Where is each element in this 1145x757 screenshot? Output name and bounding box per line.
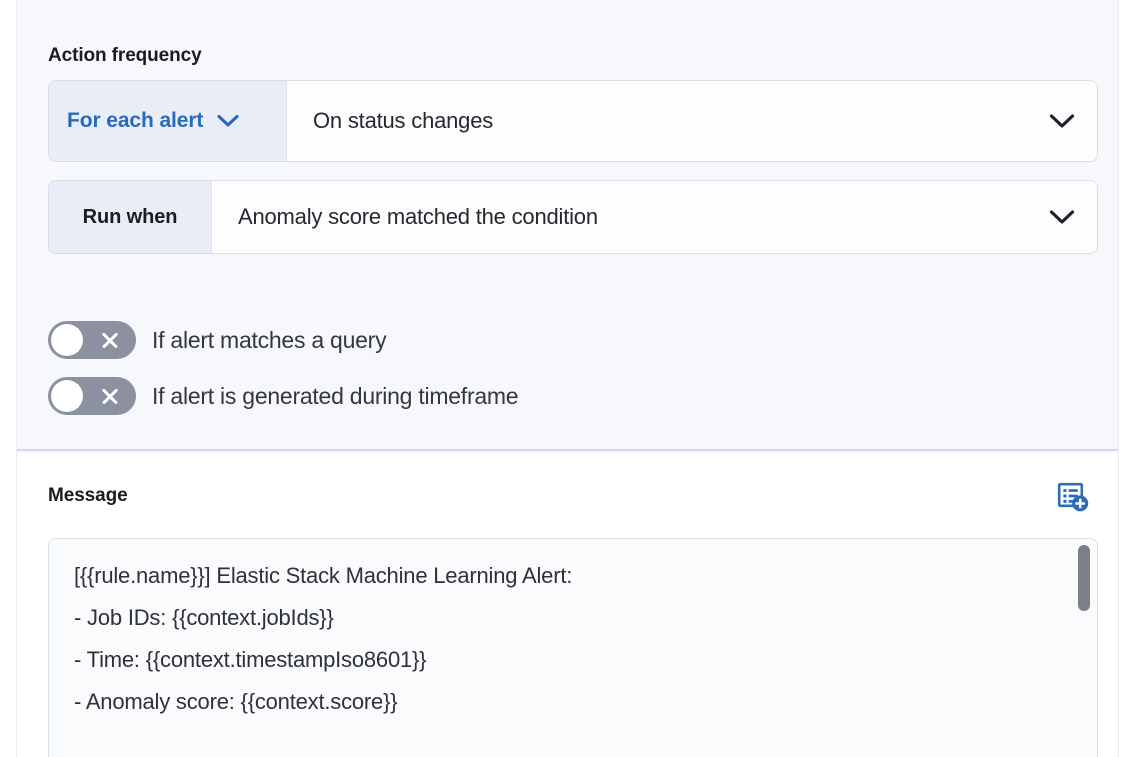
alert-query-filter-label: If alert matches a query: [152, 327, 386, 354]
screen: Action frequency For each alert On statu…: [0, 0, 1145, 757]
action-flyout-panel: Action frequency For each alert On statu…: [17, 0, 1118, 757]
right-gutter: [1118, 0, 1145, 757]
alert-timeframe-filter-toggle[interactable]: [48, 377, 136, 415]
run-when-prepend: Run when: [49, 181, 212, 253]
add-variable-icon: [1056, 480, 1090, 519]
message-scrollbar[interactable]: [1078, 545, 1090, 757]
action-frequency-section: Action frequency For each alert On statu…: [17, 0, 1118, 451]
chevron-down-icon: [1049, 209, 1075, 225]
cross-icon: [101, 331, 119, 349]
for-each-alert-prepend[interactable]: For each alert: [49, 81, 287, 161]
action-frequency-field: For each alert On status changes: [48, 80, 1098, 162]
run-when-select[interactable]: Anomaly score matched the condition: [212, 181, 1097, 253]
message-textarea[interactable]: [{{rule.name}}] Elastic Stack Machine Le…: [48, 538, 1098, 757]
alert-timeframe-filter-label: If alert is generated during timeframe: [152, 383, 518, 410]
alert-timeframe-filter-row: If alert is generated during timeframe: [48, 377, 518, 415]
message-section: Message: [17, 453, 1118, 757]
message-scrollbar-thumb[interactable]: [1078, 545, 1090, 611]
message-textarea-content: [{{rule.name}}] Elastic Stack Machine Le…: [49, 539, 1097, 739]
run-when-field: Run when Anomaly score matched the condi…: [48, 180, 1098, 254]
alert-query-filter-toggle[interactable]: [48, 321, 136, 359]
chevron-down-icon: [1049, 113, 1075, 129]
for-each-alert-dropdown[interactable]: For each alert: [67, 109, 239, 133]
toggle-knob: [51, 324, 83, 356]
alert-query-filter-row: If alert matches a query: [48, 321, 386, 359]
chevron-down-icon: [217, 114, 239, 128]
run-when-label: Run when: [83, 206, 178, 229]
notify-when-value: On status changes: [313, 108, 493, 134]
action-frequency-heading: Action frequency: [48, 45, 202, 67]
run-when-value: Anomaly score matched the condition: [238, 204, 598, 230]
toggle-knob: [51, 380, 83, 412]
add-variable-button[interactable]: [1053, 479, 1093, 519]
cross-icon: [101, 387, 119, 405]
notify-when-select[interactable]: On status changes: [287, 81, 1097, 161]
message-heading: Message: [48, 485, 128, 507]
left-gutter: [0, 0, 17, 757]
for-each-alert-label: For each alert: [67, 109, 203, 133]
